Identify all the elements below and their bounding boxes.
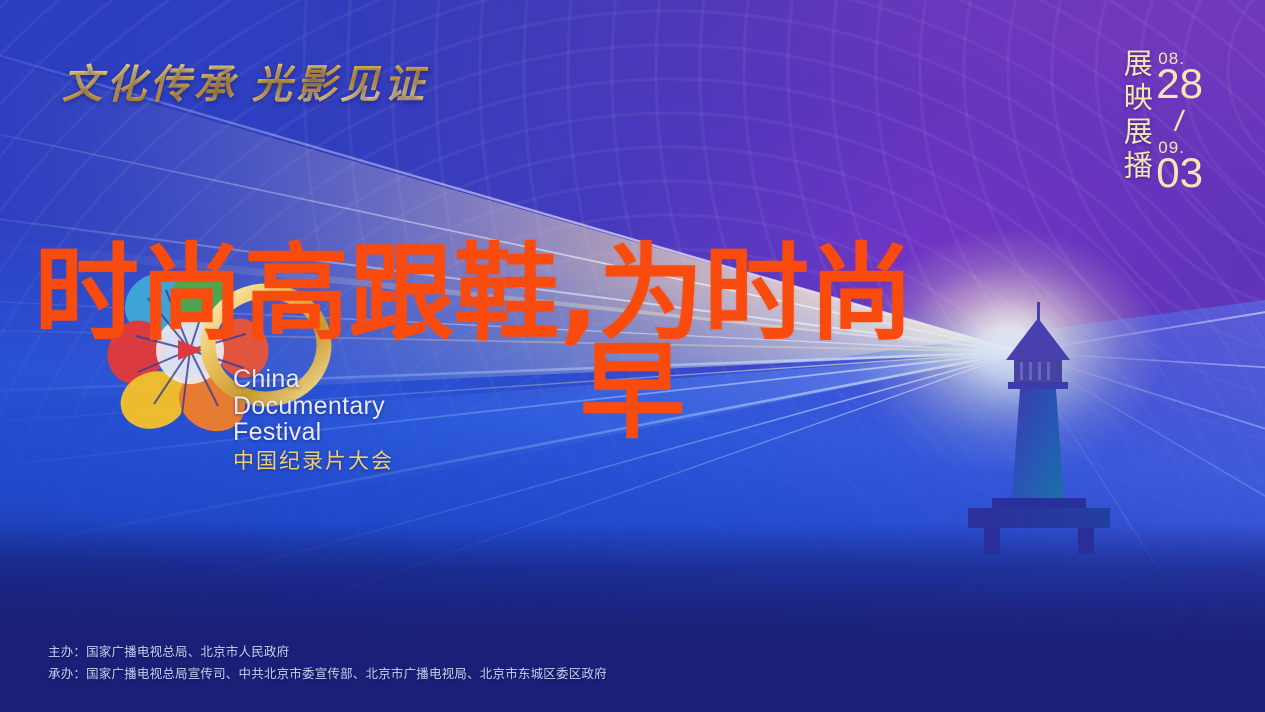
date-range: 08. 28 / 09. 03 (1156, 50, 1203, 194)
main-headline: 时尚高跟鞋,为时尚 早 (34, 243, 1234, 445)
start-day: 28 (1156, 63, 1203, 105)
wordmark-en-line-1: China (233, 366, 394, 393)
credits-co-organizer: 承办：国家广播电视总局宣传司、中共北京市委宣传部、北京市广播电视局、北京市东城区… (48, 664, 607, 686)
wordmark-en-line-3: Festival (233, 419, 394, 446)
screening-period-label: 展映展播 (1119, 48, 1150, 184)
credits-block: 主办：国家广播电视总局、北京市人民政府 承办：国家广播电视总局宣传司、中共北京市… (48, 642, 607, 686)
date-separator: / (1173, 107, 1185, 138)
poster-canvas: 文化传承 光影见证 展映展播 08. 28 / 09. 03 时尚高跟鞋,为时尚… (0, 0, 1265, 712)
credits-organizer: 主办：国家广播电视总局、北京市人民政府 (48, 642, 607, 664)
screening-period: 展映展播 08. 28 / 09. 03 (1119, 48, 1203, 194)
calligraphy-slogan: 文化传承 光影见证 (62, 52, 428, 110)
wordmark-cn: 中国纪录片大会 (233, 450, 394, 472)
festival-wordmark: China Documentary Festival 中国纪录片大会 (233, 366, 394, 472)
wordmark-en-line-2: Documentary (233, 393, 394, 420)
end-day: 03 (1156, 152, 1203, 194)
headline-line-1: 时尚高跟鞋,为时尚 (34, 233, 914, 355)
headline-line-2: 早 (580, 341, 1234, 445)
